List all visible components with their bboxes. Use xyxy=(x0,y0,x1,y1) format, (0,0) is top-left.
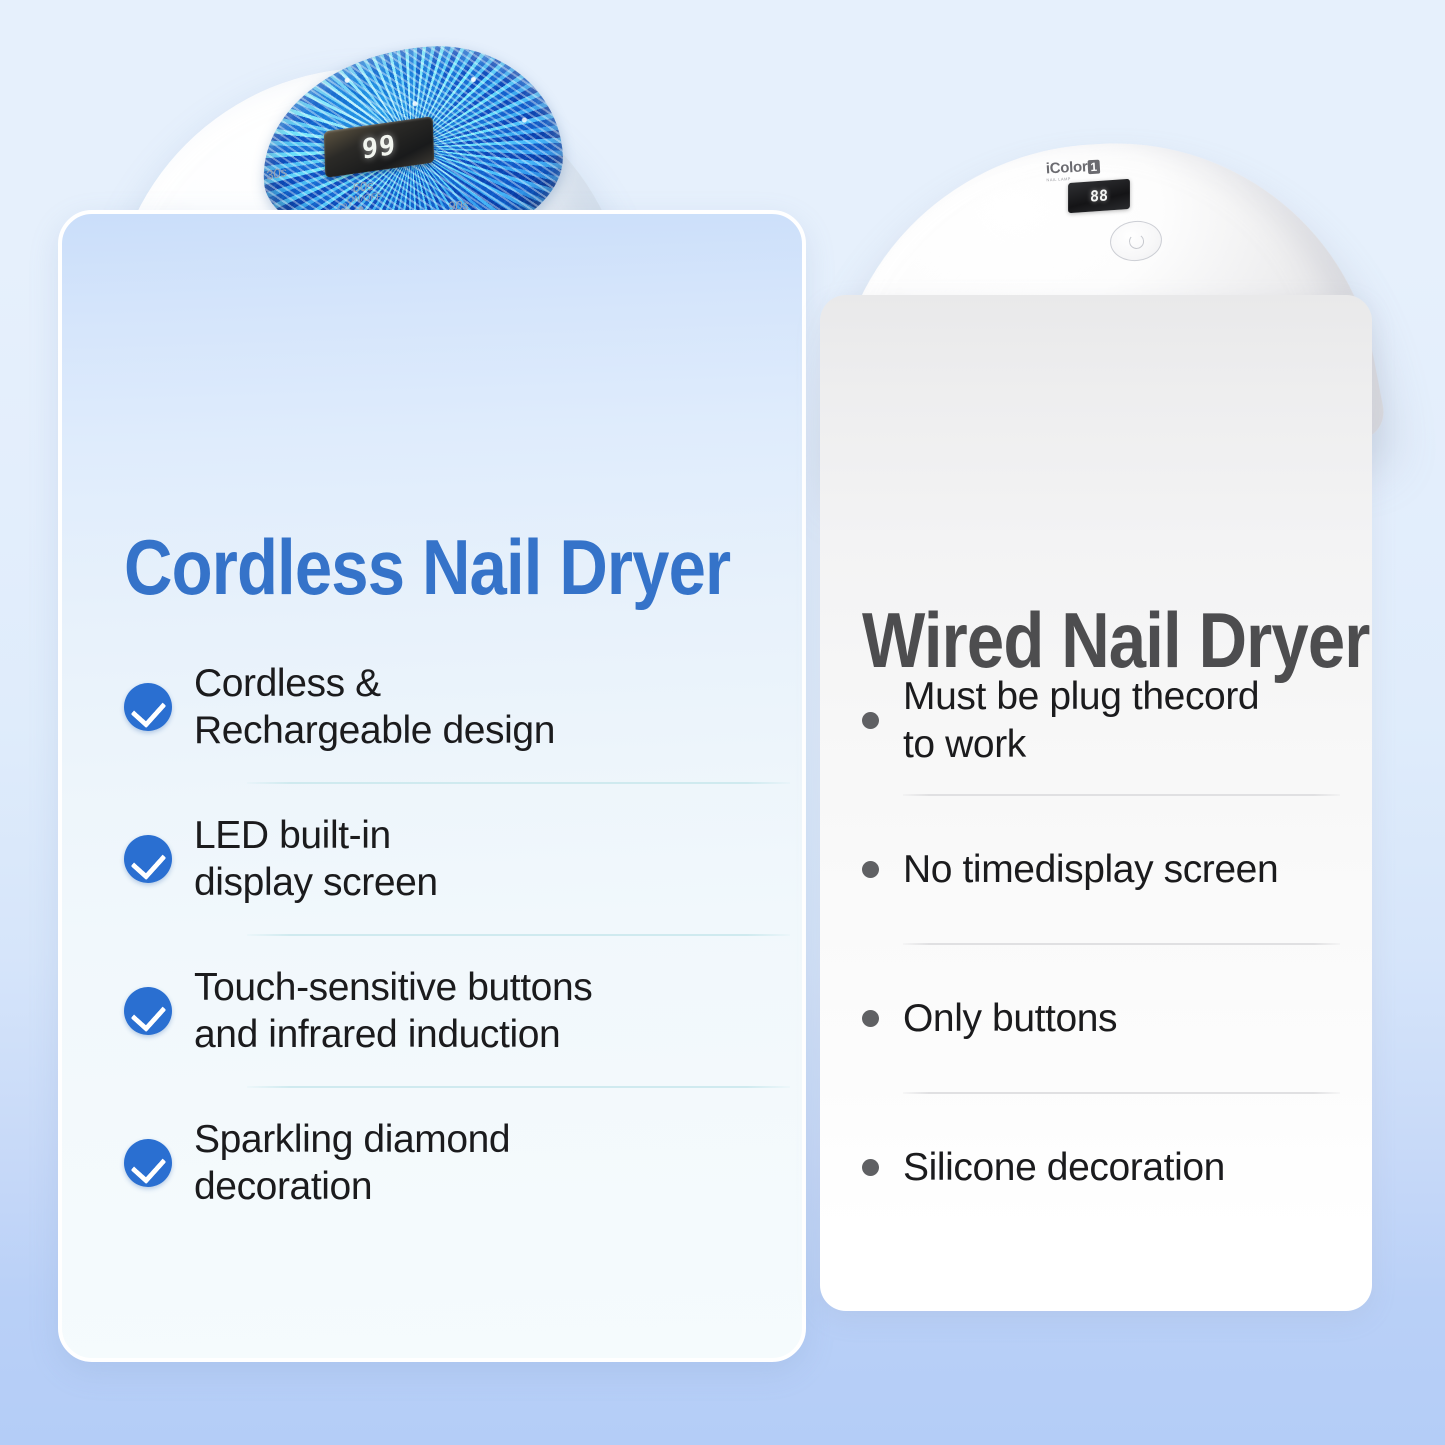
feature-text: Must be plug thecordto work xyxy=(903,673,1259,767)
list-item: Sparkling diamonddecoration xyxy=(124,1088,794,1238)
check-icon xyxy=(124,1139,172,1187)
led-display-value: 88 xyxy=(1090,186,1108,205)
list-item: Touch-sensitive buttonsand infrared indu… xyxy=(124,936,794,1086)
feature-text: Sparkling diamonddecoration xyxy=(194,1116,510,1210)
bullet-dot-icon xyxy=(862,861,879,878)
list-item: LED built-indisplay screen xyxy=(124,784,794,934)
feature-text: LED built-indisplay screen xyxy=(194,812,438,906)
list-item: No timedisplay screen xyxy=(862,796,1332,943)
check-icon xyxy=(124,683,172,731)
list-item: Cordless &Rechargeable design xyxy=(124,632,794,782)
bullet-dot-icon xyxy=(862,1159,879,1176)
bullet-dot-icon xyxy=(862,1010,879,1027)
touch-label-60s-text: 60s xyxy=(352,178,375,195)
feature-text: Only buttons xyxy=(903,995,1117,1042)
check-icon xyxy=(124,987,172,1035)
feature-text: No timedisplay screen xyxy=(903,846,1278,893)
check-icon xyxy=(124,835,172,883)
feature-text: Silicone decoration xyxy=(903,1144,1225,1191)
brand-name: iColor xyxy=(1045,158,1087,177)
cordless-feature-card: Cordless Nail Dryer Cordless &Rechargeab… xyxy=(58,210,806,1362)
bullet-dot-icon xyxy=(862,712,879,729)
list-item: Must be plug thecordto work xyxy=(862,647,1332,794)
wired-feature-list: Must be plug thecordto work No timedispl… xyxy=(862,647,1332,1241)
touch-label-60s: 60s ON/OFF xyxy=(345,178,383,205)
brand-mark-icolor: iColor1 NAIL LAMP xyxy=(1045,158,1100,183)
cordless-feature-list: Cordless &Rechargeable design LED built-… xyxy=(124,632,794,1238)
list-item: Only buttons xyxy=(862,945,1332,1092)
touch-label-30s: 30s xyxy=(265,164,288,183)
led-display: 88 xyxy=(1068,179,1130,213)
brand-tagline: NAIL LAMP xyxy=(1046,175,1100,183)
power-button-icon xyxy=(1108,218,1164,263)
feature-text: Cordless &Rechargeable design xyxy=(194,660,555,754)
list-item: Silicone decoration xyxy=(862,1094,1332,1241)
led-display: 99 xyxy=(324,116,435,178)
wired-feature-card: Wired Nail Dryer Must be plug thecordto … xyxy=(820,295,1372,1311)
touch-label-onoff: ON/OFF xyxy=(346,191,382,205)
feature-text: Touch-sensitive buttonsand infrared indu… xyxy=(194,964,592,1058)
led-display-value: 99 xyxy=(361,129,396,165)
brand-badge: 1 xyxy=(1087,160,1100,175)
page-title-cordless: Cordless Nail Dryer xyxy=(124,522,730,613)
